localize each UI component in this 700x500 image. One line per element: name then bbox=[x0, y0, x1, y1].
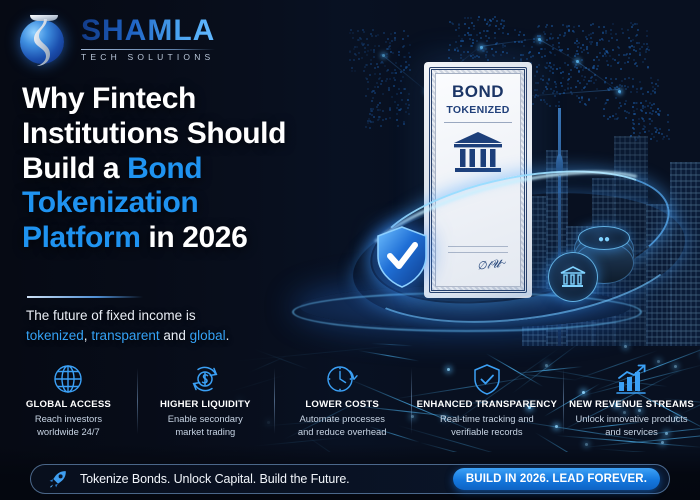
headline-accent-platform: Platform bbox=[22, 221, 141, 254]
feature-title: NEW REVENUE STREAMS bbox=[569, 399, 694, 410]
shamla-sphere-logo bbox=[16, 8, 72, 70]
brand-wordmark: SHAMLA TECH SOLUTIONS bbox=[81, 16, 215, 62]
feature-desc: Enable secondary market trading bbox=[168, 413, 243, 438]
subtitle-word-tokenized: tokenized bbox=[26, 328, 84, 343]
cta-button[interactable]: BUILD IN 2026. LEAD FOREVER. bbox=[453, 468, 660, 490]
bank-building-icon bbox=[452, 130, 504, 179]
feature-item-global-access[interactable]: GLOBAL ACCESS Reach investors worldwide … bbox=[0, 362, 137, 454]
poster-canvas: BOND TOKENIZED ∅𝓉𝓤~ bbox=[0, 0, 700, 500]
brand-name: SHAMLA bbox=[81, 16, 215, 46]
subtitle-word-global: global bbox=[190, 328, 226, 343]
shield-check-icon bbox=[473, 362, 501, 396]
feature-list: GLOBAL ACCESS Reach investors worldwide … bbox=[0, 362, 700, 454]
token-coin-stack-icon: ●● bbox=[548, 228, 644, 302]
rocket-icon bbox=[46, 468, 68, 490]
certificate-subtitle: TOKENIZED bbox=[446, 104, 509, 116]
feature-item-new-revenue-streams[interactable]: NEW REVENUE STREAMS Unlock innovative pr… bbox=[563, 362, 700, 454]
feature-desc: Unlock innovative products and services bbox=[576, 413, 688, 438]
svg-text:●●: ●● bbox=[598, 234, 610, 244]
page-title: Why Fintech Institutions Should Build a … bbox=[22, 82, 392, 256]
headline-line-3: Build a Bond bbox=[22, 152, 392, 187]
cta-text: Tokenize Bonds. Unlock Capital. Build th… bbox=[80, 472, 350, 486]
bar-chart-growth-icon bbox=[615, 362, 649, 396]
feature-desc: Automate processes and reduce overhead bbox=[298, 413, 387, 438]
headline-accent-tokenization: Tokenization bbox=[22, 186, 198, 219]
globe-icon bbox=[52, 362, 84, 396]
feature-title: LOWER COSTS bbox=[305, 399, 379, 410]
dollar-cycle-icon bbox=[188, 362, 222, 396]
feature-title: HIGHER LIQUIDITY bbox=[160, 399, 251, 410]
brand-divider bbox=[81, 49, 215, 50]
headline-line-2: Institutions Should bbox=[22, 117, 392, 152]
headline-line-5: Platform in 2026 bbox=[22, 221, 392, 256]
brand-logo[interactable]: SHAMLA TECH SOLUTIONS bbox=[16, 8, 215, 70]
feature-title: GLOBAL ACCESS bbox=[26, 399, 111, 410]
subtitle: The future of fixed income is tokenized,… bbox=[26, 306, 366, 347]
clock-arrow-icon bbox=[325, 362, 359, 396]
subtitle-word-transparent: transparent bbox=[91, 328, 159, 343]
feature-desc: Reach investors worldwide 24/7 bbox=[35, 413, 102, 438]
feature-title: ENHANCED TRANSPARENCY bbox=[417, 399, 557, 410]
certificate-divider bbox=[444, 122, 512, 123]
certificate-title: BOND bbox=[452, 83, 504, 100]
feature-desc: Real-time tracking and verifiable record… bbox=[440, 413, 534, 438]
cta-bar: Tokenize Bonds. Unlock Capital. Build th… bbox=[30, 464, 670, 494]
feature-item-lower-costs[interactable]: LOWER COSTS Automate processes and reduc… bbox=[274, 362, 411, 454]
brand-tagline: TECH SOLUTIONS bbox=[81, 52, 215, 62]
headline-line-4: Tokenization bbox=[22, 186, 392, 221]
headline-accent-bond: Bond bbox=[127, 152, 202, 185]
headline-line-1: Why Fintech bbox=[22, 82, 392, 117]
feature-item-higher-liquidity[interactable]: HIGHER LIQUIDITY Enable secondary market… bbox=[137, 362, 274, 454]
subhead-divider bbox=[27, 296, 143, 298]
feature-item-enhanced-transparency[interactable]: ENHANCED TRANSPARENCY Real-time tracking… bbox=[411, 362, 563, 454]
